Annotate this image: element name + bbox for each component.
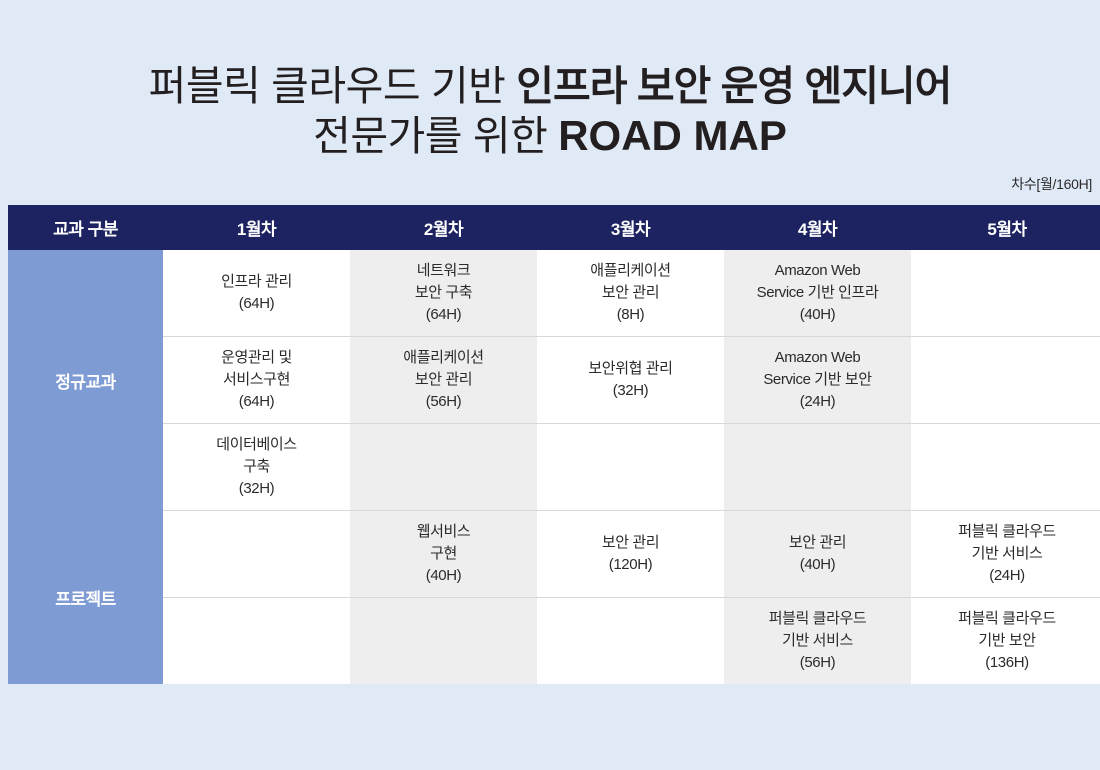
cell-s1-r2-m2: 애플리케이션보안 관리(56H) [350,337,537,424]
header-month-5: 5월차 [911,205,1100,250]
cell-s1-r1-m4: Amazon WebService 기반 인프라(40H) [724,250,911,337]
cell-course-hours: (64H) [163,391,350,413]
table-header: 교과 구분 1월차 2월차 3월차 4월차 5월차 [8,205,1100,250]
cell-course-name: 퍼블릭 클라우드 [911,608,1100,630]
page-title: 퍼블릭 클라우드 기반 인프라 보안 운영 엔지니어 전문가를 위한 ROAD … [0,62,1100,161]
cell-s1-r3-m1: 데이터베이스구축(32H) [163,424,350,511]
header-month-2: 2월차 [350,205,537,250]
table-row: 정규교과인프라 관리(64H)네트워크보안 구축(64H)애플리케이션보안 관리… [8,250,1100,337]
title-line-2-strong: ROAD MAP [558,112,787,159]
title-line-2-normal: 전문가를 위한 [313,113,558,159]
section-label-1: 정규교과 [8,250,163,511]
cell-course-name: Amazon Web [724,260,911,282]
header-month-4: 4월차 [724,205,911,250]
cell-course-name: 웹서비스 [350,521,537,543]
cell-course-hours: (40H) [724,304,911,326]
cell-course-hours: (56H) [724,652,911,674]
title-line-1: 퍼블릭 클라우드 기반 인프라 보안 운영 엔지니어 [0,62,1100,111]
cell-s1-r3-m2 [350,424,537,511]
cell-s1-r2-m5 [911,337,1100,424]
cell-course-name: 보안 관리 [537,282,724,304]
roadmap-table: 교과 구분 1월차 2월차 3월차 4월차 5월차 정규교과인프라 관리(64H… [8,205,1100,684]
cell-course-hours: (64H) [350,304,537,326]
cell-s2-r1-m2: 웹서비스구현(40H) [350,511,537,598]
cell-s2-r2-m3 [537,598,724,685]
cell-s1-r1-m5 [911,250,1100,337]
cell-course-name: 기반 서비스 [724,630,911,652]
cell-course-hours: (40H) [724,554,911,576]
cell-course-name: Service 기반 보안 [724,369,911,391]
cell-s1-r1-m3: 애플리케이션보안 관리(8H) [537,250,724,337]
cell-course-name: Service 기반 인프라 [724,282,911,304]
cell-course-hours: (64H) [163,293,350,315]
cell-s2-r1-m3: 보안 관리(120H) [537,511,724,598]
table-row: 데이터베이스구축(32H) [8,424,1100,511]
table-row: 프로젝트웹서비스구현(40H)보안 관리(120H)보안 관리(40H)퍼블릭 … [8,511,1100,598]
cell-s2-r1-m5: 퍼블릭 클라우드기반 서비스(24H) [911,511,1100,598]
cell-course-name: 구축 [163,456,350,478]
cell-course-name: 서비스구현 [163,369,350,391]
cell-course-name: 보안 관리 [724,532,911,554]
cell-s2-r2-m1 [163,598,350,685]
cell-course-name: 퍼블릭 클라우드 [724,608,911,630]
cell-course-hours: (32H) [163,478,350,500]
cell-course-hours: (56H) [350,391,537,413]
title-line-1-strong: 인프라 보안 운영 엔지니어 [516,63,951,109]
cell-course-name: 보안 구축 [350,282,537,304]
cell-course-name: 애플리케이션 [350,347,537,369]
cell-course-hours: (32H) [537,380,724,402]
cell-s2-r2-m2 [350,598,537,685]
table-row: 퍼블릭 클라우드기반 서비스(56H)퍼블릭 클라우드기반 보안(136H) [8,598,1100,685]
cell-course-name: 애플리케이션 [537,260,724,282]
cell-s2-r2-m4: 퍼블릭 클라우드기반 서비스(56H) [724,598,911,685]
table-header-row: 교과 구분 1월차 2월차 3월차 4월차 5월차 [8,205,1100,250]
cell-s1-r1-m2: 네트워크보안 구축(64H) [350,250,537,337]
cell-s1-r2-m1: 운영관리 및서비스구현(64H) [163,337,350,424]
cell-s1-r3-m5 [911,424,1100,511]
cell-s1-r1-m1: 인프라 관리(64H) [163,250,350,337]
cell-course-name: Amazon Web [724,347,911,369]
cell-s1-r3-m3 [537,424,724,511]
header-month-1: 1월차 [163,205,350,250]
title-line-1-normal: 퍼블릭 클라우드 기반 [149,63,517,109]
table-row: 운영관리 및서비스구현(64H)애플리케이션보안 관리(56H)보안위협 관리(… [8,337,1100,424]
cell-course-hours: (8H) [537,304,724,326]
title-line-2: 전문가를 위한 ROAD MAP [0,111,1100,161]
header-month-3: 3월차 [537,205,724,250]
cell-course-name: 기반 서비스 [911,543,1100,565]
cell-course-name: 인프라 관리 [163,271,350,293]
cell-course-hours: (24H) [911,565,1100,587]
cell-course-name: 기반 보안 [911,630,1100,652]
table-body: 정규교과인프라 관리(64H)네트워크보안 구축(64H)애플리케이션보안 관리… [8,250,1100,684]
cell-course-name: 데이터베이스 [163,434,350,456]
cell-course-name: 네트워크 [350,260,537,282]
section-label-2: 프로젝트 [8,511,163,685]
cell-s2-r2-m5: 퍼블릭 클라우드기반 보안(136H) [911,598,1100,685]
cell-s2-r1-m4: 보안 관리(40H) [724,511,911,598]
cell-course-hours: (136H) [911,652,1100,674]
cell-course-name: 운영관리 및 [163,347,350,369]
unit-note: 차수[월/160H] [1011,174,1092,194]
cell-s2-r1-m1 [163,511,350,598]
cell-course-hours: (120H) [537,554,724,576]
cell-course-name: 구현 [350,543,537,565]
cell-course-hours: (40H) [350,565,537,587]
cell-s1-r3-m4 [724,424,911,511]
cell-course-name: 보안위협 관리 [537,358,724,380]
cell-course-name: 퍼블릭 클라우드 [911,521,1100,543]
cell-course-name: 보안 관리 [537,532,724,554]
cell-s1-r2-m4: Amazon WebService 기반 보안(24H) [724,337,911,424]
cell-s1-r2-m3: 보안위협 관리(32H) [537,337,724,424]
cell-course-name: 보안 관리 [350,369,537,391]
cell-course-hours: (24H) [724,391,911,413]
header-category: 교과 구분 [8,205,163,250]
